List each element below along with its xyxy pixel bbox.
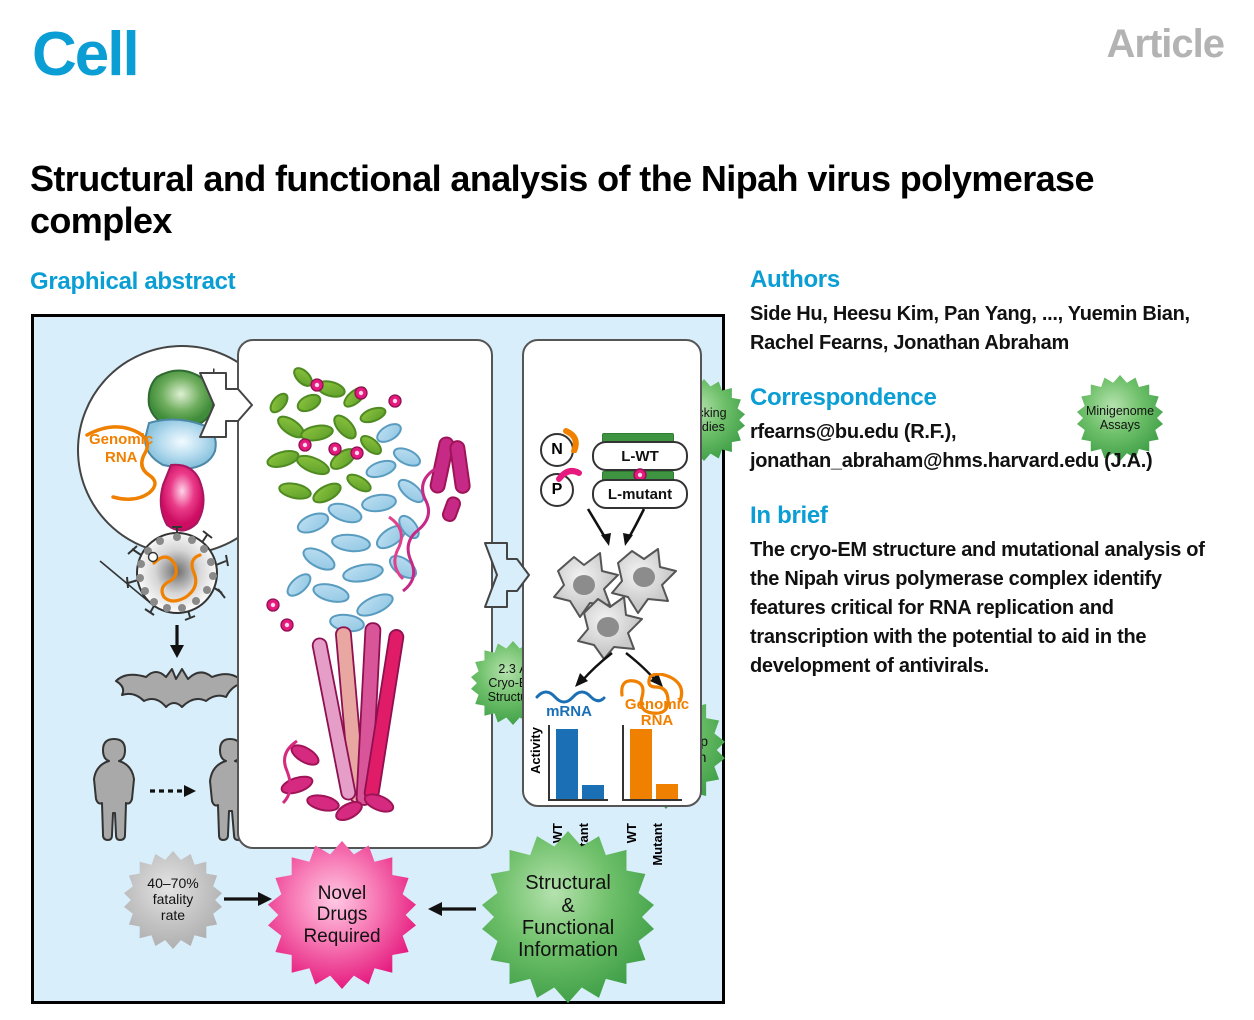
N-protein-arc-icon	[562, 427, 584, 453]
fatality-line2: fatality	[147, 892, 198, 908]
L-mutant-construct: L-mutant	[592, 479, 688, 509]
structural-functional-information-badge: Structural & Functional Information	[482, 831, 654, 1003]
cells-icon	[540, 541, 688, 659]
genomic-bar-wt	[630, 729, 652, 799]
correspondence-heading: Correspondence	[750, 384, 1220, 412]
in-brief-heading: In brief	[750, 502, 1220, 530]
mrna-bar-mutant	[582, 785, 604, 799]
chevron-arrow-right-2-icon	[483, 539, 531, 611]
mrna-bar-chart: Activity WT Mutant	[528, 725, 608, 845]
authors-list: Side Hu, Heesu Kim, Pan Yang, ..., Yuemi…	[750, 300, 1220, 358]
genomic-rna-label-line1: Genomic	[89, 431, 153, 448]
arrow-down-to-bat-icon	[166, 625, 188, 659]
graphical-abstract-heading: Graphical abstract	[30, 268, 235, 296]
genomic-bar-mutant	[656, 784, 678, 799]
drugs-line1: Novel	[303, 883, 380, 904]
drugs-line2: Drugs	[303, 904, 380, 925]
authors-heading: Authors	[750, 266, 1220, 294]
P-protein-arc-icon	[556, 465, 582, 483]
journal-logo: Cell	[32, 24, 138, 86]
structure-panel: Docking Studies 2.3 Å Cryo-EM Structure …	[237, 339, 493, 849]
chevron-arrow-right-1-icon	[198, 369, 254, 441]
mrna-y-axis-label: Activity	[528, 727, 543, 774]
info-line3: Functional	[518, 917, 618, 939]
genomic-xtick-mutant: Mutant	[650, 823, 665, 866]
virus-particle-icon	[112, 521, 242, 631]
page-title: Structural and functional analysis of th…	[30, 158, 1220, 242]
info-line4: Information	[518, 939, 618, 961]
article-metadata-column: Authors Side Hu, Heesu Kim, Pan Yang, ..…	[750, 266, 1220, 707]
correspondence-emails[interactable]: rfearns@bu.edu (R.F.), jonathan_abraham@…	[750, 418, 1220, 476]
bat-icon	[104, 655, 254, 725]
graphical-abstract-figure: L Genomic RNA	[31, 314, 725, 1004]
novel-drugs-required-badge: Novel Drugs Required	[268, 841, 416, 989]
info-line1: Structural	[518, 872, 618, 894]
in-brief-block: In brief The cryo-EM structure and mutat…	[750, 502, 1220, 681]
genomic-chart-title-line1: Genomic	[620, 697, 694, 713]
genomic-rna-label-line2: RNA	[105, 449, 138, 466]
fatality-line3: rate	[147, 908, 198, 924]
minigenome-assay-panel: Minigenome Assays N P L-WT L-mutant	[522, 339, 702, 807]
mrna-chart-title: mRNA	[532, 703, 606, 720]
correspondence-block: Correspondence rfearns@bu.edu (R.F.), jo…	[750, 384, 1220, 476]
cryoem-structure-render	[239, 341, 491, 847]
fatality-line1: 40–70%	[147, 876, 198, 892]
arrow-left-to-drugs-icon	[426, 899, 478, 919]
arrow-right-to-drugs-icon	[224, 889, 274, 909]
authors-block: Authors Side Hu, Heesu Kim, Pan Yang, ..…	[750, 266, 1220, 358]
genomic-xtick-wt: WT	[624, 823, 639, 843]
genomic-bar-chart: WT Mutant	[616, 725, 696, 845]
mrna-bar-wt	[556, 729, 578, 799]
info-line2: &	[518, 895, 618, 917]
fatality-rate-badge: 40–70% fatality rate	[124, 851, 222, 949]
article-type-label: Article	[1107, 22, 1225, 67]
in-brief-text: The cryo-EM structure and mutational ana…	[750, 536, 1220, 681]
drugs-line3: Required	[303, 926, 380, 947]
